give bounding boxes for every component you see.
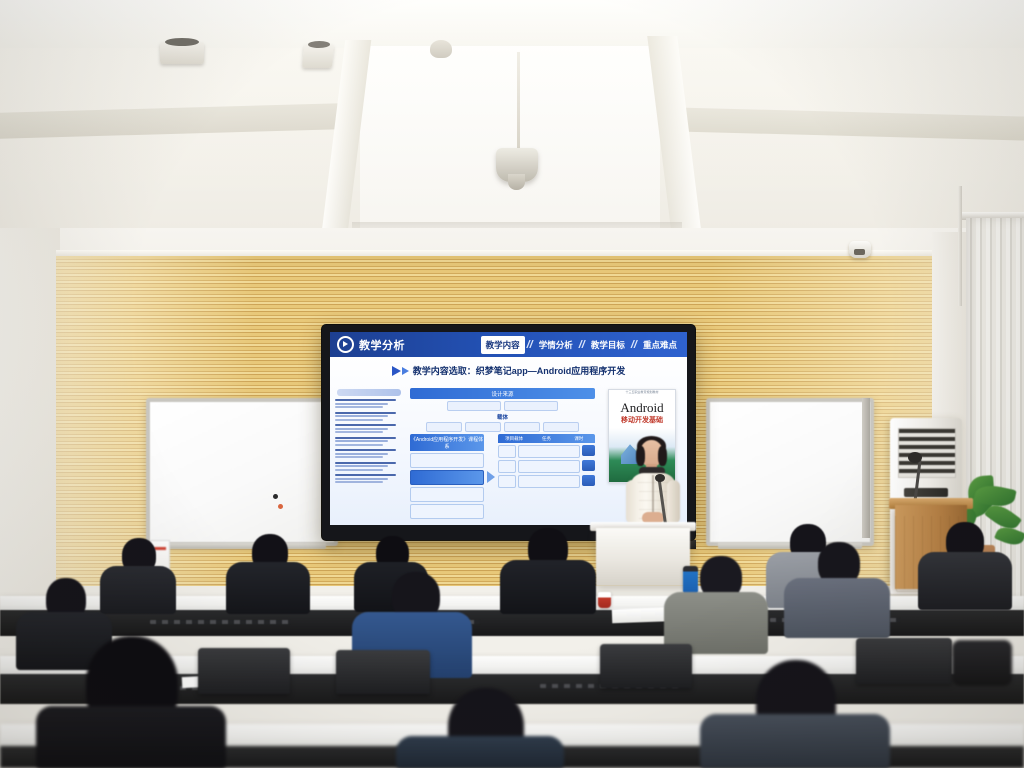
attendee-body bbox=[500, 560, 596, 614]
module-item bbox=[410, 504, 484, 519]
speaker-box-icon bbox=[160, 42, 204, 64]
presenter-arm-right bbox=[667, 480, 680, 524]
water-bottle bbox=[683, 566, 698, 594]
course-group bbox=[335, 474, 403, 483]
lectern-microphone-head-icon bbox=[655, 474, 665, 482]
white-lectern bbox=[596, 528, 690, 586]
arrow-circle-icon bbox=[337, 336, 354, 353]
chair-back[interactable] bbox=[600, 644, 692, 688]
tab-teaching-goals[interactable]: 教学目标 bbox=[587, 337, 629, 353]
flow-arrow-icon bbox=[487, 471, 495, 483]
ceiling bbox=[0, 0, 1024, 232]
cell-task bbox=[518, 460, 580, 473]
group-line bbox=[335, 419, 383, 421]
book-title-cn: 移动开发基础 bbox=[609, 415, 675, 425]
tab-separator: // bbox=[527, 339, 533, 351]
attendee-body bbox=[36, 706, 226, 768]
tab-separator: // bbox=[579, 339, 585, 351]
course-group bbox=[335, 449, 403, 458]
ceiling-soffit bbox=[0, 0, 1024, 48]
group-title-line bbox=[335, 462, 396, 464]
whiteboard-tray bbox=[158, 543, 326, 549]
wall-pipe bbox=[958, 186, 962, 306]
carrier-subtitle: 载体 bbox=[410, 413, 595, 421]
carrier-chip bbox=[426, 422, 462, 432]
module-list-header: 《Android应用程序开发》课程体系 bbox=[410, 434, 484, 451]
handbag bbox=[952, 640, 1012, 686]
attendee-body bbox=[784, 578, 890, 638]
group-line bbox=[335, 481, 383, 483]
group-title-line bbox=[335, 474, 396, 476]
module-item bbox=[410, 487, 484, 502]
attendee-body bbox=[100, 566, 176, 614]
task-table-row bbox=[498, 475, 595, 488]
col-task: 任务 bbox=[530, 434, 562, 443]
group-line bbox=[335, 456, 383, 458]
slide-header: 教学分析 教学内容 // 学情分析 // 教学目标 // 重点难点 bbox=[330, 332, 687, 357]
chair-back[interactable] bbox=[856, 638, 952, 684]
podium-microphone-head-icon bbox=[908, 452, 922, 463]
attendee-body bbox=[226, 562, 310, 614]
group-title-line bbox=[335, 449, 396, 451]
attendee-body bbox=[918, 552, 1012, 610]
slide-left-panel bbox=[330, 387, 408, 525]
drop-mount-rod bbox=[517, 52, 520, 152]
task-table-row bbox=[498, 445, 595, 458]
whiteboard-left bbox=[146, 398, 338, 546]
group-line bbox=[335, 428, 388, 430]
cell-carrier bbox=[498, 445, 516, 458]
speaker-box-icon bbox=[302, 44, 334, 68]
group-line bbox=[335, 478, 388, 480]
standard-chip bbox=[504, 401, 558, 411]
task-table-row bbox=[498, 460, 595, 473]
group-title-line bbox=[335, 399, 396, 401]
group-line bbox=[335, 465, 388, 467]
course-flow-block: 《Android应用程序开发》课程体系 项目载体 任务 bbox=[410, 434, 595, 519]
double-chevron-icon bbox=[402, 367, 409, 375]
col-hours: 课时 bbox=[563, 434, 595, 443]
course-group bbox=[335, 462, 403, 471]
carrier-chip bbox=[543, 422, 579, 432]
module-list: 《Android应用程序开发》课程体系 bbox=[410, 434, 484, 519]
desk-socket-strip bbox=[150, 620, 290, 624]
ceiling-beam-left bbox=[0, 103, 340, 138]
attendee-body bbox=[700, 714, 890, 768]
slide-tab-bar: 教学内容 // 学情分析 // 教学目标 // 重点难点 bbox=[481, 332, 687, 357]
book-publisher-note: 十三五职业教育规划教材 bbox=[609, 390, 675, 394]
cell-task bbox=[518, 475, 580, 488]
carrier-chip-row bbox=[410, 422, 595, 432]
standard-chip bbox=[447, 401, 501, 411]
group-line bbox=[335, 415, 388, 417]
design-source-bar: 设计来源 bbox=[410, 388, 595, 399]
whiteboard-magnet bbox=[273, 494, 278, 499]
carrier-chip bbox=[504, 422, 540, 432]
course-group bbox=[335, 412, 403, 421]
tab-separator: // bbox=[631, 339, 637, 351]
ac-display-panel bbox=[904, 488, 948, 497]
presenter-hair-side bbox=[636, 446, 645, 466]
task-table: 项目载体 任务 课时 bbox=[498, 434, 595, 519]
classroom-scene: 教学分析 教学内容 // 学情分析 // 教学目标 // 重点难点 教学内容选取… bbox=[0, 0, 1024, 768]
group-line bbox=[335, 444, 383, 446]
standards-chip-row bbox=[410, 401, 595, 411]
course-group bbox=[335, 399, 403, 408]
presenter-hair-side bbox=[658, 446, 667, 466]
group-title-line bbox=[335, 424, 396, 426]
security-camera-icon bbox=[849, 241, 871, 258]
whiteboard-right bbox=[706, 398, 874, 546]
module-item bbox=[410, 453, 484, 468]
cell-hours-badge bbox=[582, 475, 595, 486]
cell-hours-badge bbox=[582, 460, 595, 471]
book-title-en: Android bbox=[609, 401, 675, 414]
chair-back[interactable] bbox=[336, 650, 430, 694]
group-line bbox=[335, 403, 388, 405]
smoke-detector-icon bbox=[430, 40, 452, 58]
group-title-line bbox=[335, 437, 396, 439]
tab-key-difficulties[interactable]: 重点难点 bbox=[639, 337, 681, 353]
group-line bbox=[335, 431, 383, 433]
ac-grill-icon bbox=[898, 428, 956, 478]
slide-heading-row: 教学内容选取：织梦笔记app—Android应用程序开发 bbox=[330, 357, 687, 377]
ceiling-beam-right bbox=[678, 107, 1024, 140]
group-line bbox=[335, 440, 388, 442]
group-line bbox=[335, 453, 388, 455]
coffee-cup bbox=[598, 592, 611, 608]
attendee-body bbox=[396, 736, 564, 768]
drop-projector-mount-icon bbox=[496, 148, 538, 182]
left-panel-caption bbox=[337, 389, 401, 396]
task-table-header: 项目载体 任务 课时 bbox=[498, 434, 595, 443]
carrier-chip bbox=[465, 422, 501, 432]
course-group bbox=[335, 424, 403, 433]
cell-task bbox=[518, 445, 580, 458]
ceiling-panel bbox=[360, 46, 660, 236]
slide-heading-text: 教学内容选取：织梦笔记app—Android应用程序开发 bbox=[413, 364, 626, 377]
module-item-highlighted bbox=[410, 470, 484, 485]
tab-learner-analysis[interactable]: 学情分析 bbox=[535, 337, 577, 353]
presenter-arm-left bbox=[626, 480, 639, 524]
group-line bbox=[335, 469, 383, 471]
cell-carrier bbox=[498, 460, 516, 473]
tab-teaching-content[interactable]: 教学内容 bbox=[481, 336, 525, 354]
group-title-line bbox=[335, 412, 396, 414]
whiteboard-right-edge bbox=[862, 398, 870, 538]
col-carrier: 项目载体 bbox=[498, 434, 530, 443]
group-line bbox=[335, 406, 383, 408]
slide-title: 教学分析 bbox=[359, 337, 405, 353]
book-top-band: 十三五职业教育规划教材 bbox=[609, 390, 675, 398]
double-chevron-icon bbox=[392, 366, 401, 376]
slide-center-panel: 设计来源 载体 bbox=[408, 387, 597, 525]
cell-carrier bbox=[498, 475, 516, 488]
cell-hours-badge bbox=[582, 445, 595, 456]
chair-back[interactable] bbox=[198, 648, 290, 694]
whiteboard-magnet bbox=[278, 504, 283, 509]
course-group bbox=[335, 437, 403, 446]
